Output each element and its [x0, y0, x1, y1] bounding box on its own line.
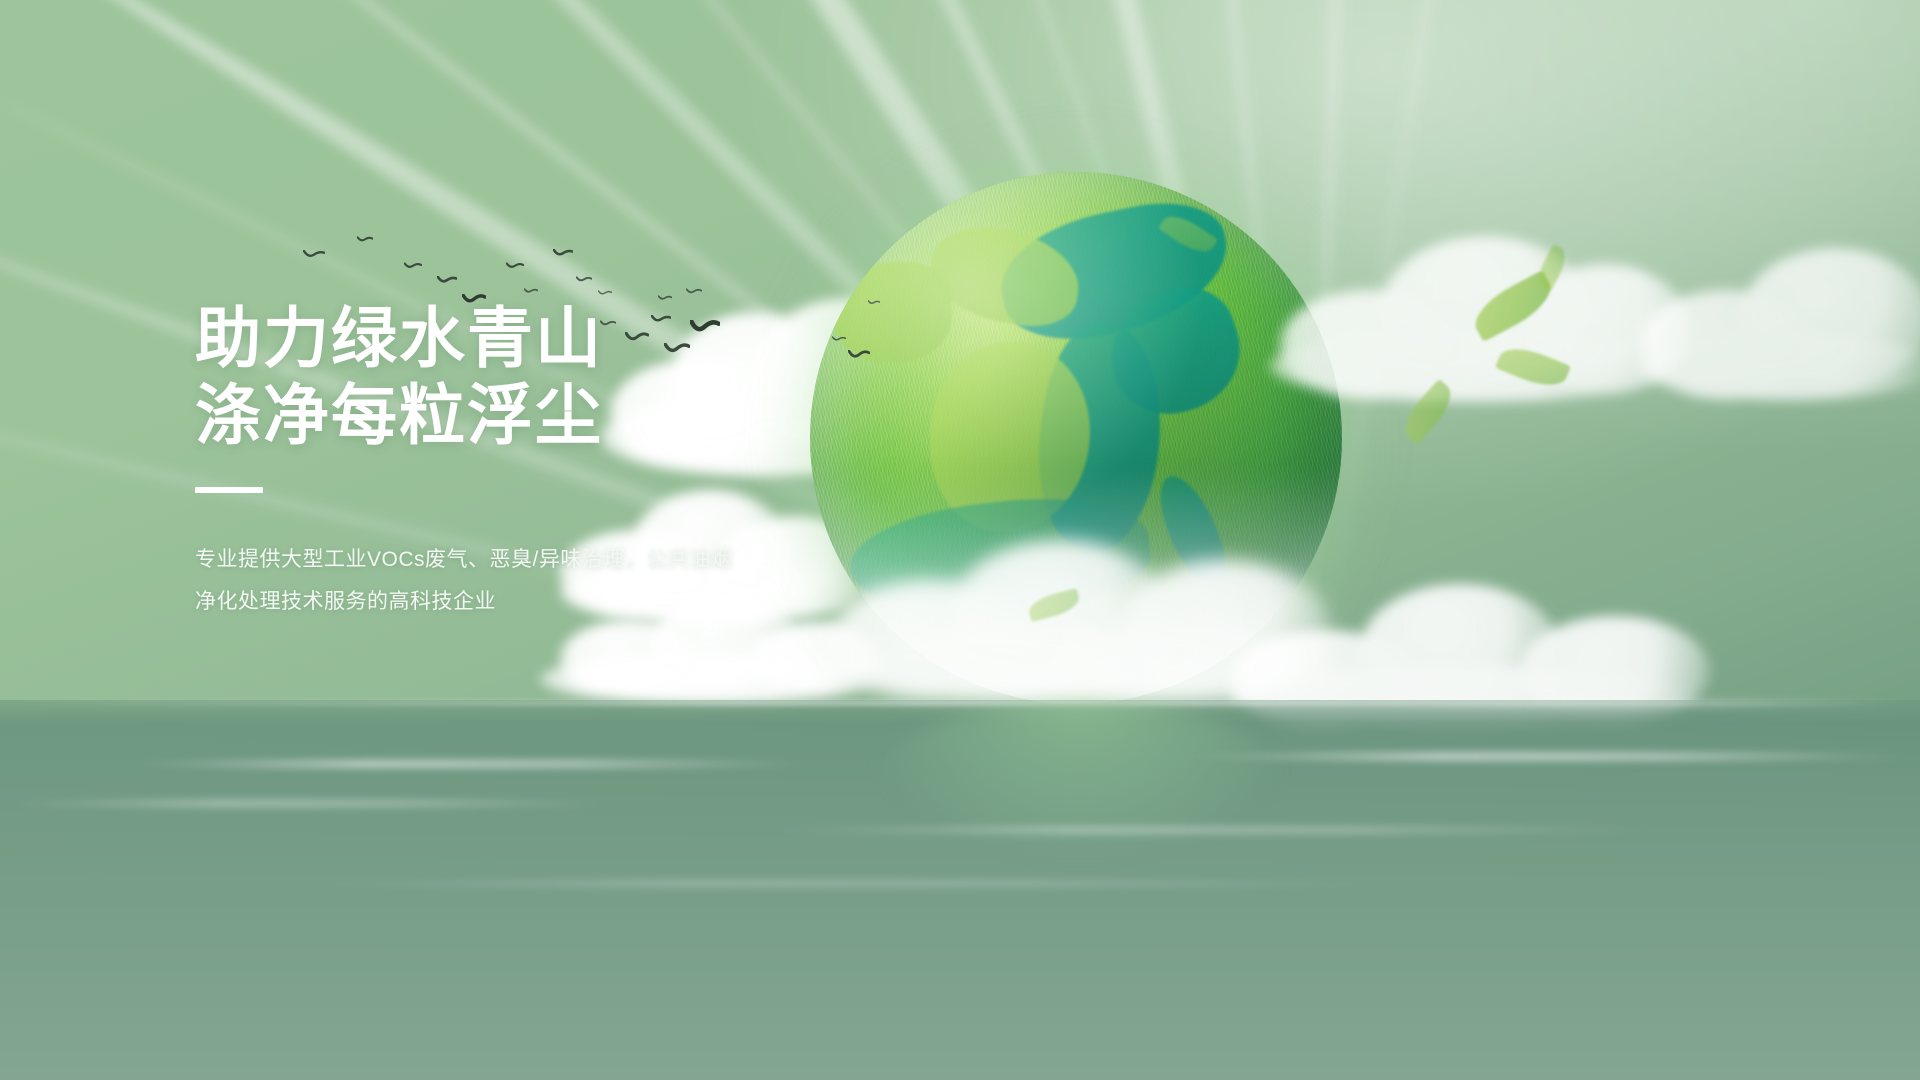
- bird-icon-17: [598, 290, 612, 297]
- bird-icon-6: [506, 262, 524, 271]
- leaf-3: [1396, 379, 1460, 445]
- hero-banner: 助力绿水青山 涤净每粒浮尘 专业提供大型工业VOCs废气、恶臭/异味治理，公共油…: [0, 0, 1920, 1080]
- bird-icon-1: [303, 250, 325, 261]
- headline-divider: [195, 487, 263, 493]
- water-horizon-line: [0, 700, 1920, 706]
- bird-icon-2: [357, 236, 373, 244]
- globe-reflection: [880, 700, 1280, 850]
- bird-icon-14: [686, 288, 702, 296]
- bird-icon-4: [437, 276, 457, 286]
- bird-icon-8: [553, 249, 573, 259]
- bird-icon-9: [576, 276, 592, 284]
- headline-line-1: 助力绿水青山: [195, 300, 955, 377]
- bird-icon-7: [524, 288, 538, 295]
- banner-copy: 助力绿水青山 涤净每粒浮尘 专业提供大型工业VOCs废气、恶臭/异味治理，公共油…: [195, 300, 955, 623]
- leaf-2: [1495, 340, 1571, 394]
- banner-description: 专业提供大型工业VOCs废气、恶臭/异味治理，公共油烟净化处理技术服务的高科技企…: [195, 539, 735, 623]
- bird-icon-3: [404, 262, 422, 271]
- cloud-far-right: [1640, 230, 1920, 410]
- headline-line-2: 涤净每粒浮尘: [195, 377, 955, 454]
